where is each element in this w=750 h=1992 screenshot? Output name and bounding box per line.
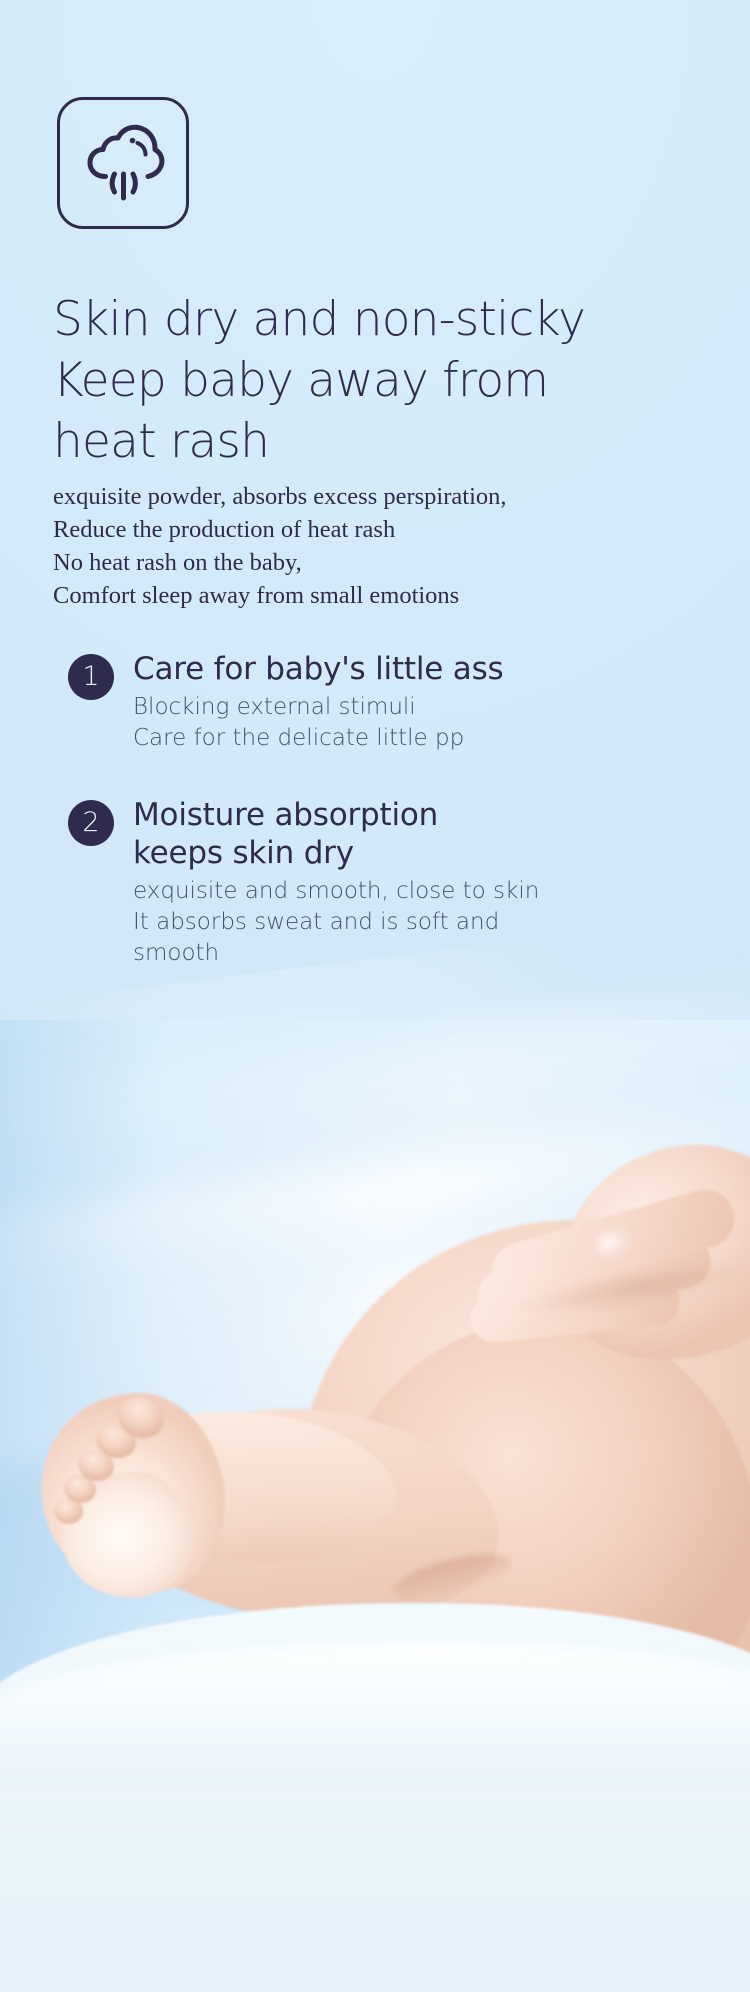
feature-description: exquisite and smooth, close to skin It a… [133, 876, 750, 969]
feature-title: Moisture absorption keeps skin dry [133, 796, 750, 872]
feature-number-badge: 1 [68, 654, 114, 700]
feature-description: Blocking external stimuli Care for the d… [133, 692, 750, 754]
baby-photo [0, 1020, 750, 1992]
page-title: Skin dry and non-sticky Keep baby away f… [53, 289, 653, 472]
product-detail-page: Skin dry and non-sticky Keep baby away f… [0, 0, 750, 1992]
feature-title: Care for baby's little ass [133, 650, 750, 688]
feature-icon-frame [57, 97, 189, 229]
feature-item: 2 Moisture absorption keeps skin dry exq… [0, 796, 750, 969]
lead-paragraph: exquisite powder, absorbs excess perspir… [53, 480, 673, 612]
feature-number-badge: 2 [68, 800, 114, 846]
feature-item: 1 Care for baby's little ass Blocking ex… [0, 650, 750, 754]
feature-list: 1 Care for baby's little ass Blocking ex… [0, 650, 750, 1011]
